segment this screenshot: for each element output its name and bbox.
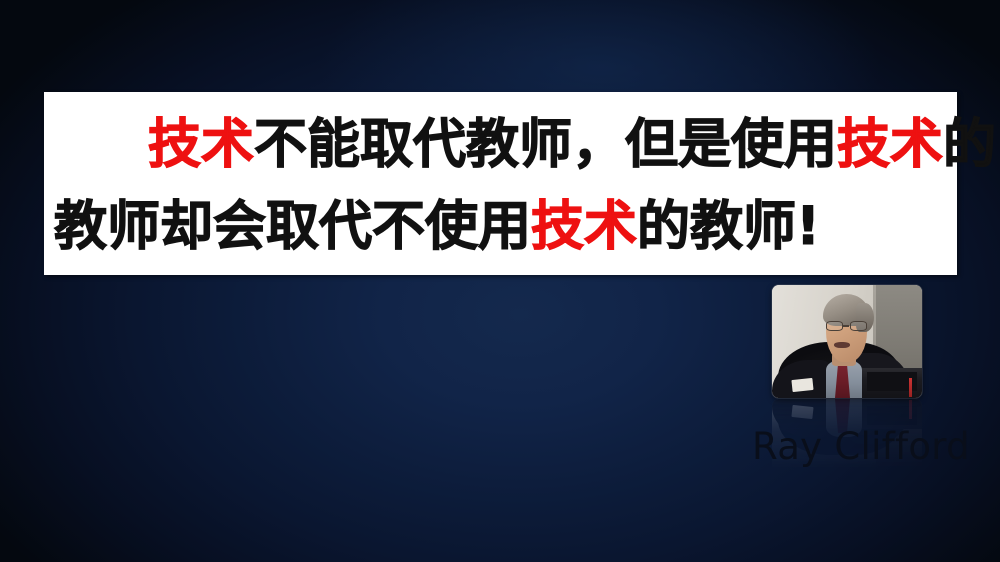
quote-line-1-segment-4: 的 <box>943 114 996 175</box>
photo-laptop-indicator <box>909 378 912 396</box>
photo-person-mouth <box>834 342 851 349</box>
quote-line-2-segment-3: 的教师! <box>637 196 820 257</box>
quote-panel: 技术不能取代教师，但是使用技术的 教师却会取代不使用技术的教师! <box>44 92 957 275</box>
quote-line-1: 技术不能取代教师，但是使用技术的 <box>148 118 996 171</box>
photo-person-glasses <box>826 321 867 331</box>
photo-glasses-bridge <box>843 325 849 327</box>
quote-line-2-segment-2: 技术 <box>531 196 637 257</box>
quote-line-1-segment-1: 技术 <box>148 114 254 175</box>
portrait-photo-image <box>772 285 922 398</box>
quote-line-2: 教师却会取代不使用技术的教师! <box>54 200 820 253</box>
portrait-photo <box>772 285 922 398</box>
quote-line-1-segment-2: 不能取代教师，但是使用 <box>254 114 837 175</box>
photo-glasses-lens-left <box>826 321 843 331</box>
presentation-slide: 技术不能取代教师，但是使用技术的 教师却会取代不使用技术的教师! <box>0 0 1000 562</box>
photo-laptop <box>862 368 922 399</box>
photo-glasses-lens-right <box>850 321 867 331</box>
photo-person-name-badge <box>791 378 813 393</box>
quote-line-2-segment-1: 教师却会取代不使用 <box>54 196 531 257</box>
quote-line-1-segment-3: 技术 <box>837 114 943 175</box>
reflection-person-name-badge <box>791 405 813 420</box>
attribution-name: Ray Clifford <box>752 428 970 467</box>
slide-background-highlight <box>0 0 1000 562</box>
reflection-laptop-indicator <box>909 400 912 418</box>
